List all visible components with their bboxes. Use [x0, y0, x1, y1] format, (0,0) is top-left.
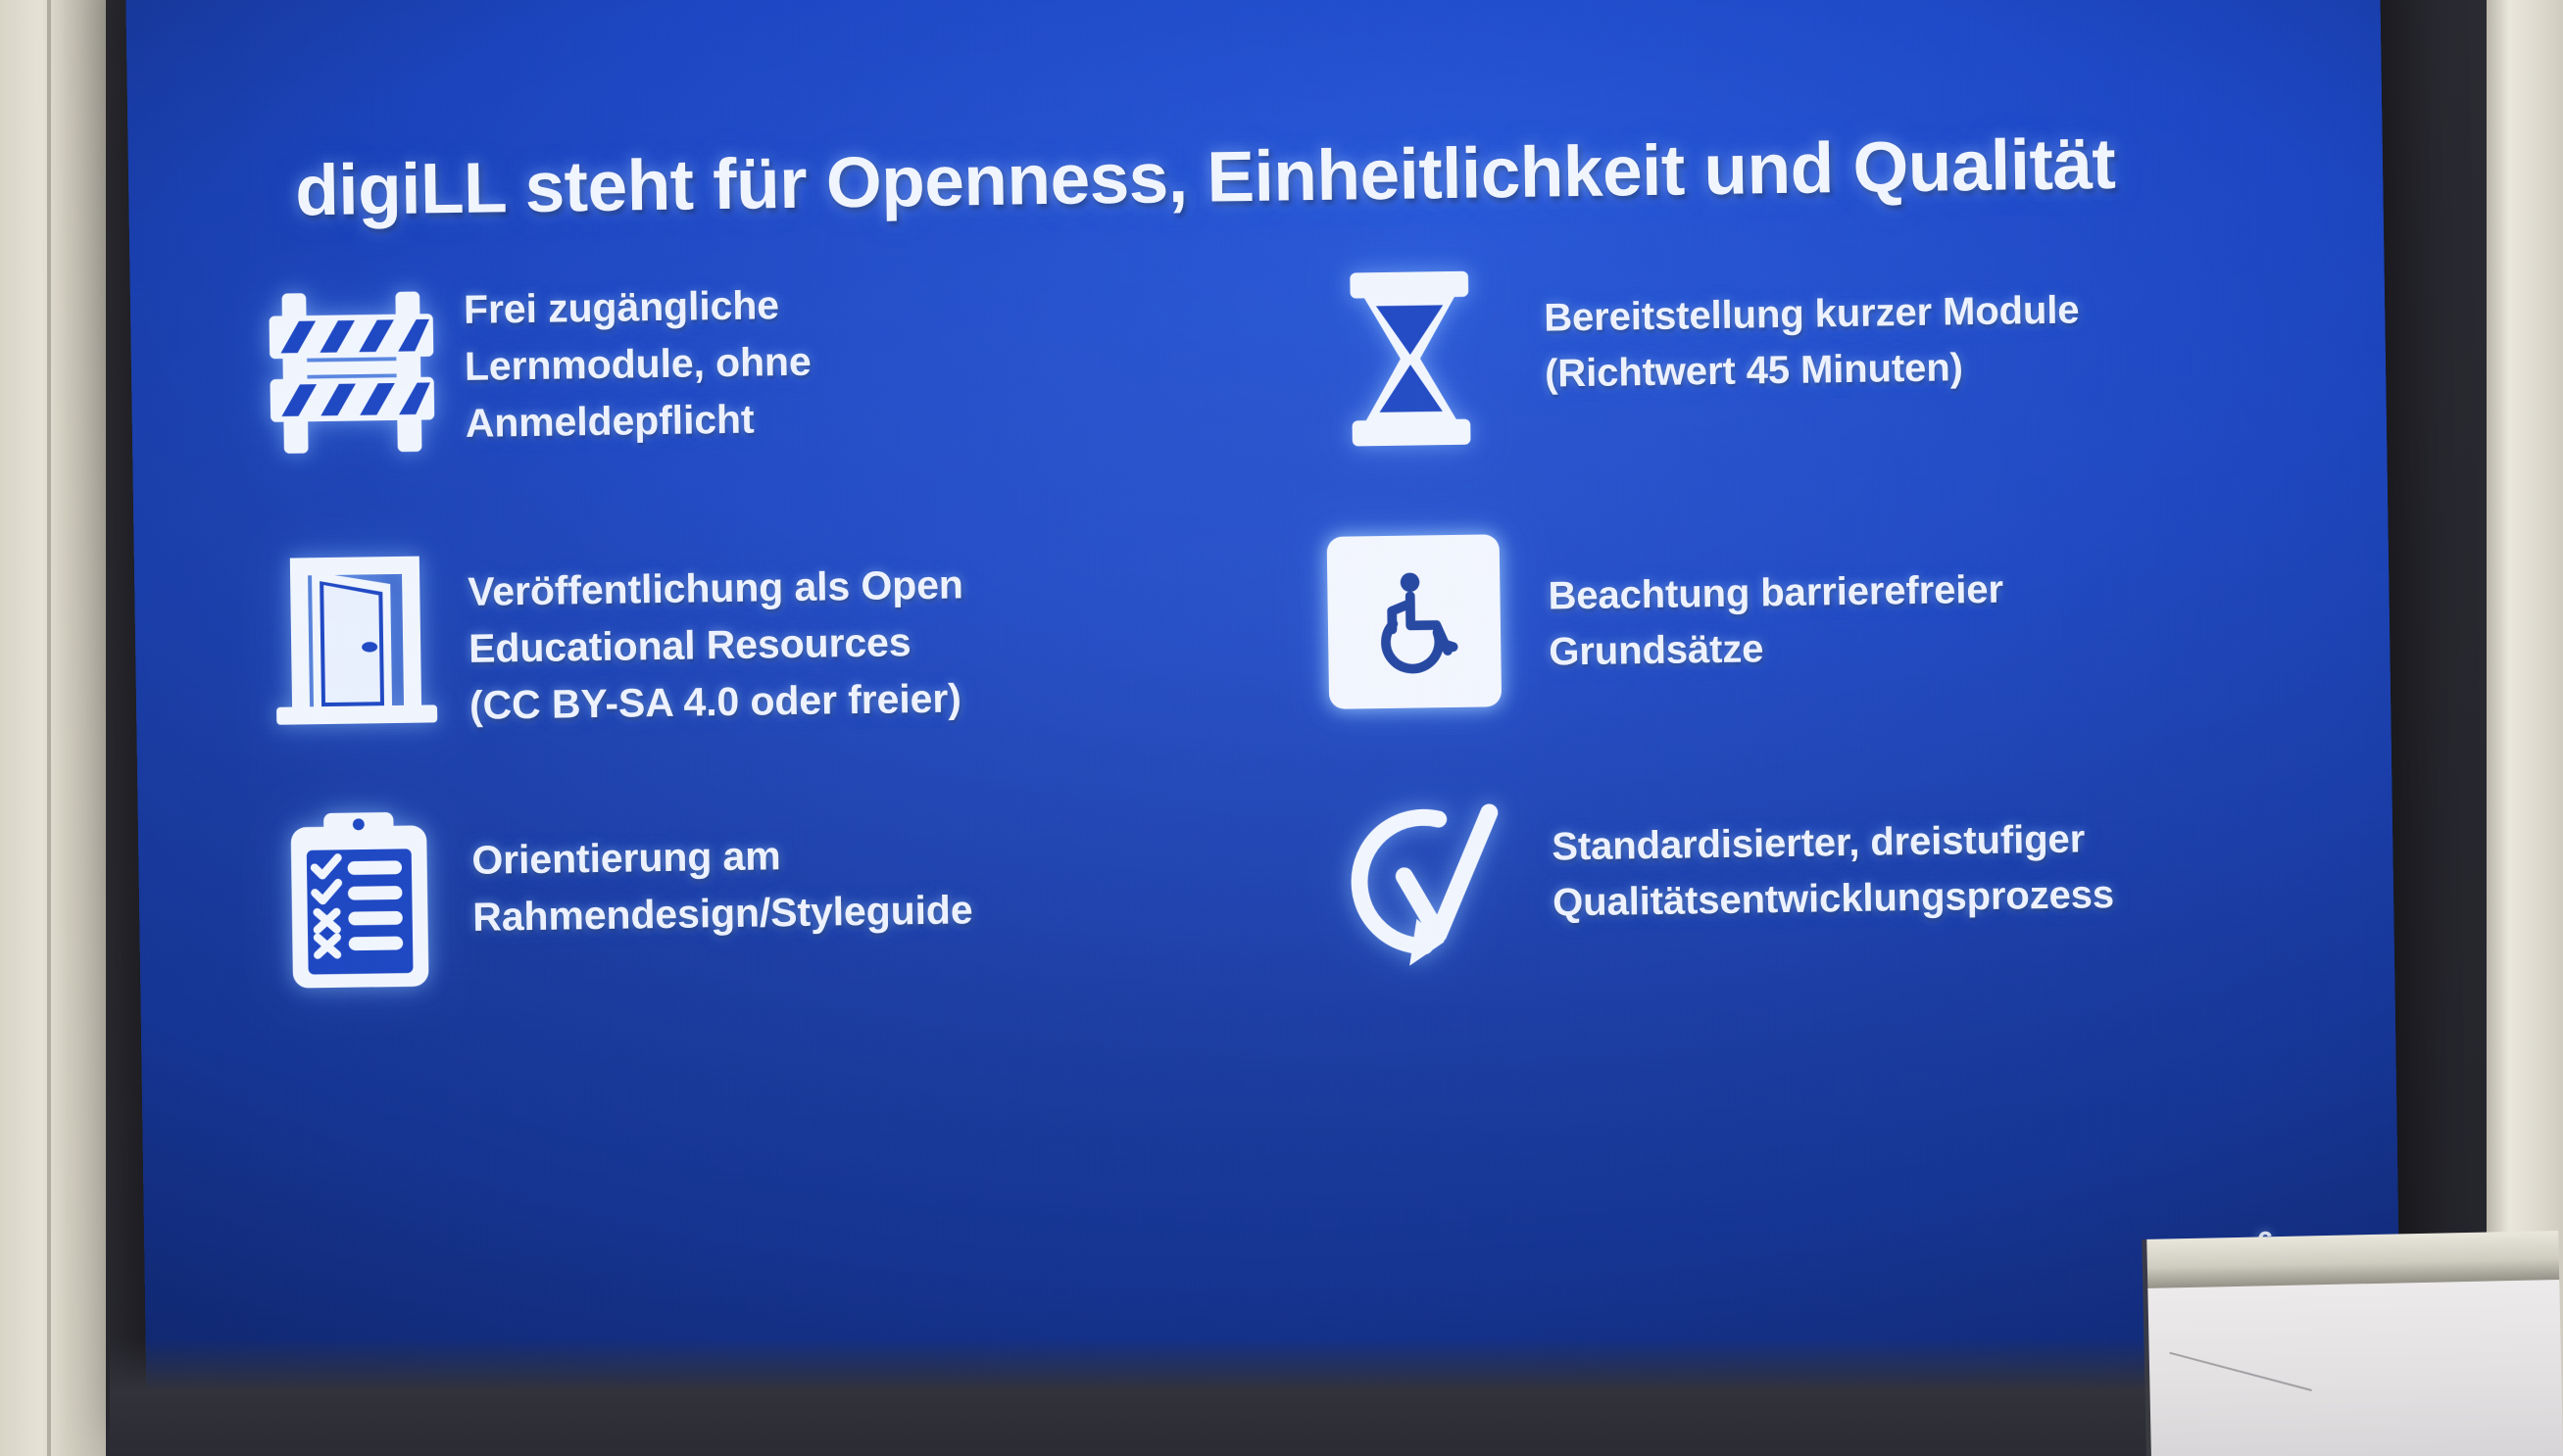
- feature-line: Bereitstellung kurzer Module: [1544, 282, 2080, 346]
- feature-item-bereitstellung-kurzer-module: Bereitstellung kurzer Module (Richtwert …: [1276, 240, 2319, 518]
- clipboard-checklist-icon: [245, 793, 473, 1006]
- room-wall-left: [0, 0, 110, 1456]
- accessibility-plate: [1327, 534, 1503, 709]
- wheelchair-accessibility-icon: [1300, 514, 1528, 728]
- feature-line: Lernmodule, ohne: [464, 333, 812, 395]
- feature-line: (Richtwert 45 Minuten): [1545, 338, 2081, 402]
- road-barrier-icon: [237, 267, 466, 481]
- feature-item-frei-zugaengliche-lernmodule: Frei zugängliche Lernmodule, ohne Anmeld…: [237, 256, 1280, 534]
- flipchart-paper: [2147, 1280, 2563, 1456]
- feature-line: Educational Resources: [468, 613, 964, 678]
- open-door-icon: [241, 530, 469, 744]
- feature-item-text: Frei zugängliche Lernmodule, ohne Anmeld…: [463, 263, 813, 453]
- flipchart-board: [2146, 1231, 2563, 1456]
- feature-line: Anmeldepflicht: [465, 390, 813, 452]
- feature-line: Qualitätsentwicklungsprozess: [1553, 867, 2115, 931]
- wall-seam: [47, 0, 51, 1456]
- feature-item-veroeffentlichung-als-oer: Veröffentlichung als Open Educational Re…: [241, 518, 1284, 797]
- feature-line: Orientierung am: [471, 824, 972, 889]
- flipchart-crease: [2169, 1352, 2312, 1391]
- circular-arrow-check-icon: [1304, 777, 1532, 991]
- presentation-slide: digiLL steht für Openness, Einheitlichke…: [125, 0, 2401, 1419]
- feature-line: Rahmendesign/Styleguide: [472, 882, 973, 946]
- feature-line: Veröffentlichung als Open: [468, 556, 963, 620]
- feature-line: (CC BY-SA 4.0 oder freier): [469, 670, 965, 735]
- projected-slide-photo: digiLL steht für Openness, Einheitlichke…: [0, 0, 2563, 1456]
- feature-line: Grundsätze: [1549, 617, 2004, 680]
- feature-line: Frei zugängliche: [464, 276, 812, 338]
- feature-grid: Frei zugängliche Lernmodule, ohne Anmeld…: [237, 240, 2327, 1058]
- feature-item-orientierung-rahmendesign: Orientierung am Rahmendesign/Styleguide: [245, 781, 1288, 1059]
- feature-item-text: Beachtung barrierefreier Grundsätze: [1547, 508, 2004, 680]
- feature-line: Beachtung barrierefreier: [1548, 562, 2003, 625]
- page-title: digiLL steht für Openness, Einheitlichke…: [295, 125, 2256, 229]
- feature-item-text: Orientierung am Rahmendesign/Styleguide: [470, 785, 973, 946]
- feature-line: Standardisierter, dreistufiger: [1552, 811, 2114, 875]
- feature-item-barrierefreie-grundsaetze: Beachtung barrierefreier Grundsätze: [1280, 503, 2323, 781]
- feature-item-text: Bereitstellung kurzer Module (Richtwert …: [1543, 243, 2080, 402]
- slide-content: digiLL steht für Openness, Einheitlichke…: [125, 0, 2401, 1419]
- feature-item-text: Standardisierter, dreistufiger Qualitäts…: [1551, 768, 2114, 931]
- feature-item-qualitaetsentwicklungsprozess: Standardisierter, dreistufiger Qualitäts…: [1284, 765, 2327, 1043]
- hourglass-icon: [1296, 252, 1524, 465]
- feature-item-text: Veröffentlichung als Open Educational Re…: [467, 522, 965, 734]
